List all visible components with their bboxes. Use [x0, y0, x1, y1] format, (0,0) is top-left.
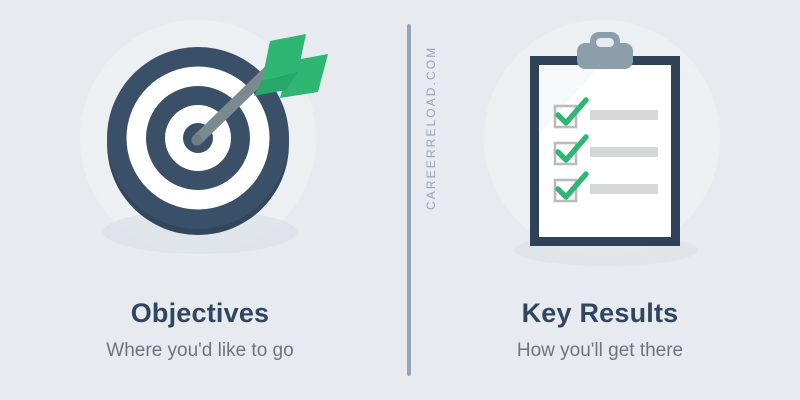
- checklist-bar-3: [590, 184, 658, 194]
- page-title-objectives: Objectives: [0, 296, 400, 330]
- clipboard-checklist-icon: [400, 16, 800, 276]
- panel-key-results: Key Results How you'll get there: [400, 0, 800, 400]
- target-with-arrow-icon: [0, 16, 400, 276]
- infographic-canvas: Objectives Where you'd like to go CAREER…: [0, 0, 800, 400]
- checklist-bar-2: [590, 147, 658, 157]
- subtitle-key-results: How you'll get there: [400, 338, 800, 364]
- objectives-icon-area: [0, 16, 400, 276]
- checklist-bar-1: [590, 110, 658, 120]
- page-title-key-results: Key Results: [400, 296, 800, 330]
- panel-objectives: Objectives Where you'd like to go: [0, 0, 400, 400]
- key-results-icon-area: [400, 16, 800, 276]
- clipboard-clip-hole: [596, 38, 614, 47]
- arrow-tip: [192, 135, 203, 146]
- subtitle-objectives: Where you'd like to go: [0, 338, 400, 364]
